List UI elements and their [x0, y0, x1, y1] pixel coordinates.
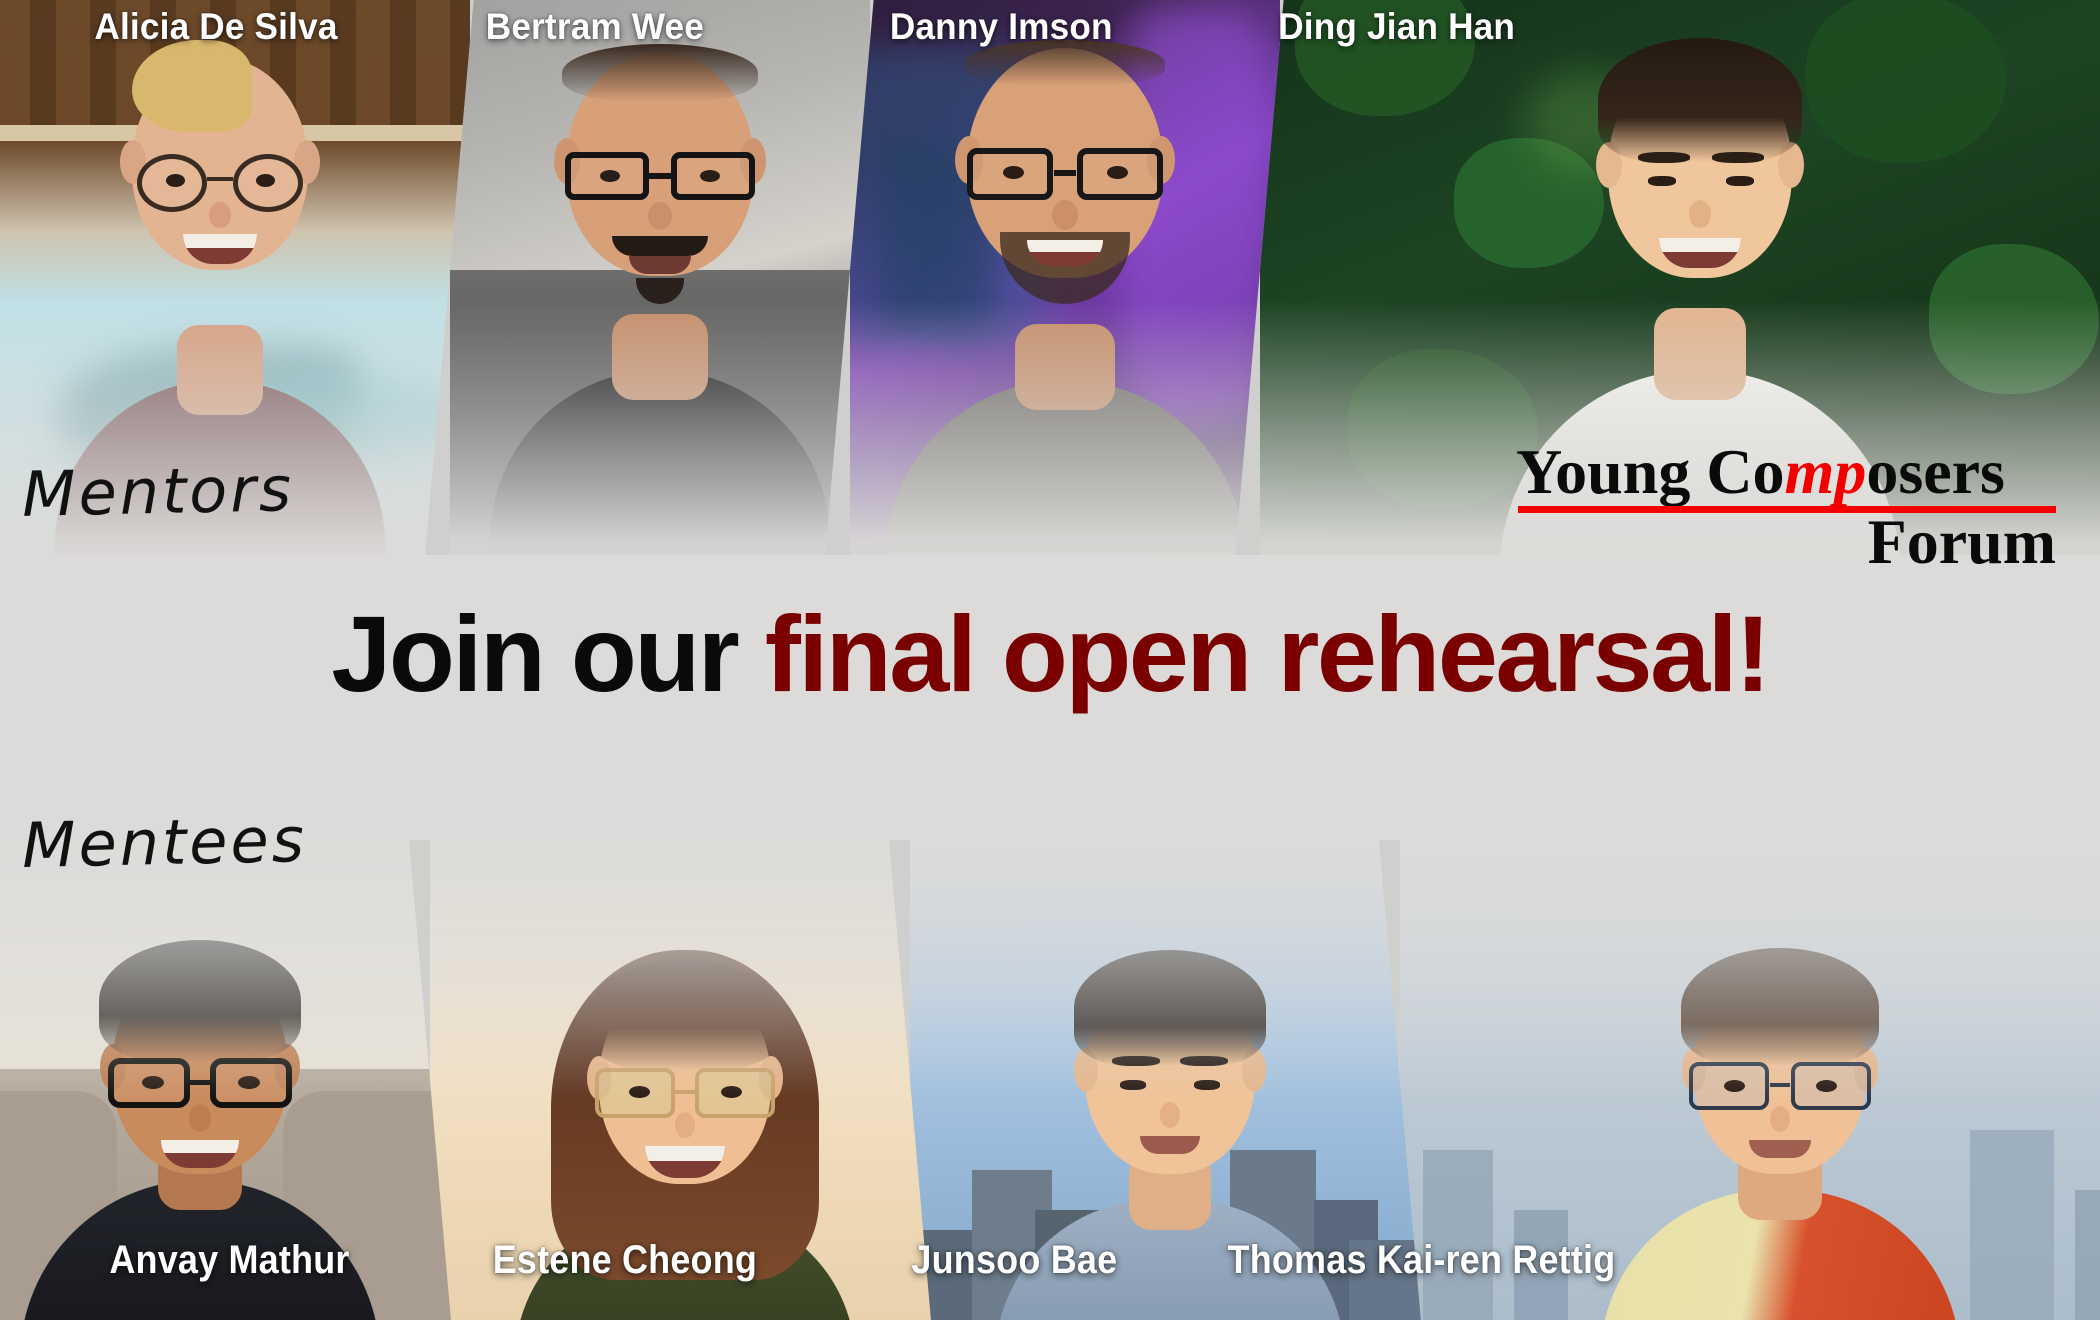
portrait-bertram — [450, 0, 870, 560]
mentees-section-label: Mentees — [21, 803, 307, 882]
headline-part-2: final open rehearsal! — [765, 593, 1769, 714]
mentor-name-2: Bertram Wee — [486, 6, 704, 48]
logo-osers: osers — [1866, 436, 2005, 507]
logo-line-1: Young Composers — [1516, 440, 2056, 504]
mentee-name-3: Junsoo Bae — [911, 1238, 1117, 1283]
logo-young-co: Young Co — [1516, 436, 1785, 507]
logo-line-2: Forum — [1516, 510, 2056, 574]
mentee-name-1: Anvay Mathur — [109, 1238, 349, 1283]
mentee-name-2: Estene Cheong — [493, 1238, 757, 1283]
young-composers-forum-logo: Young Composers Forum — [1516, 440, 2056, 574]
mentor-panel-3 — [821, 0, 1309, 560]
portrait-danny — [850, 0, 1280, 560]
mentor-panel-2 — [421, 0, 899, 560]
mentee-name-4: Thomas Kai-ren Rettig — [1228, 1238, 1616, 1283]
logo-red-underline — [1518, 506, 2056, 513]
headline: Join our final open rehearsal! — [0, 600, 2100, 708]
mentors-section-label: Mentors — [21, 452, 294, 531]
mentor-name-1: Alicia De Silva — [94, 6, 337, 48]
mentor-name-3: Danny Imson — [890, 6, 1113, 48]
mentees-photo-row: Anvay Mathur Estene Cheong Junsoo Bae Th… — [0, 840, 2100, 1320]
mentor-name-4: Ding Jian Han — [1278, 6, 1515, 48]
logo-mp-accent: mp — [1785, 436, 1867, 507]
poster-canvas: Alicia De Silva Bertram Wee Danny Imson … — [0, 0, 2100, 1320]
headline-part-1: Join our — [331, 593, 765, 714]
